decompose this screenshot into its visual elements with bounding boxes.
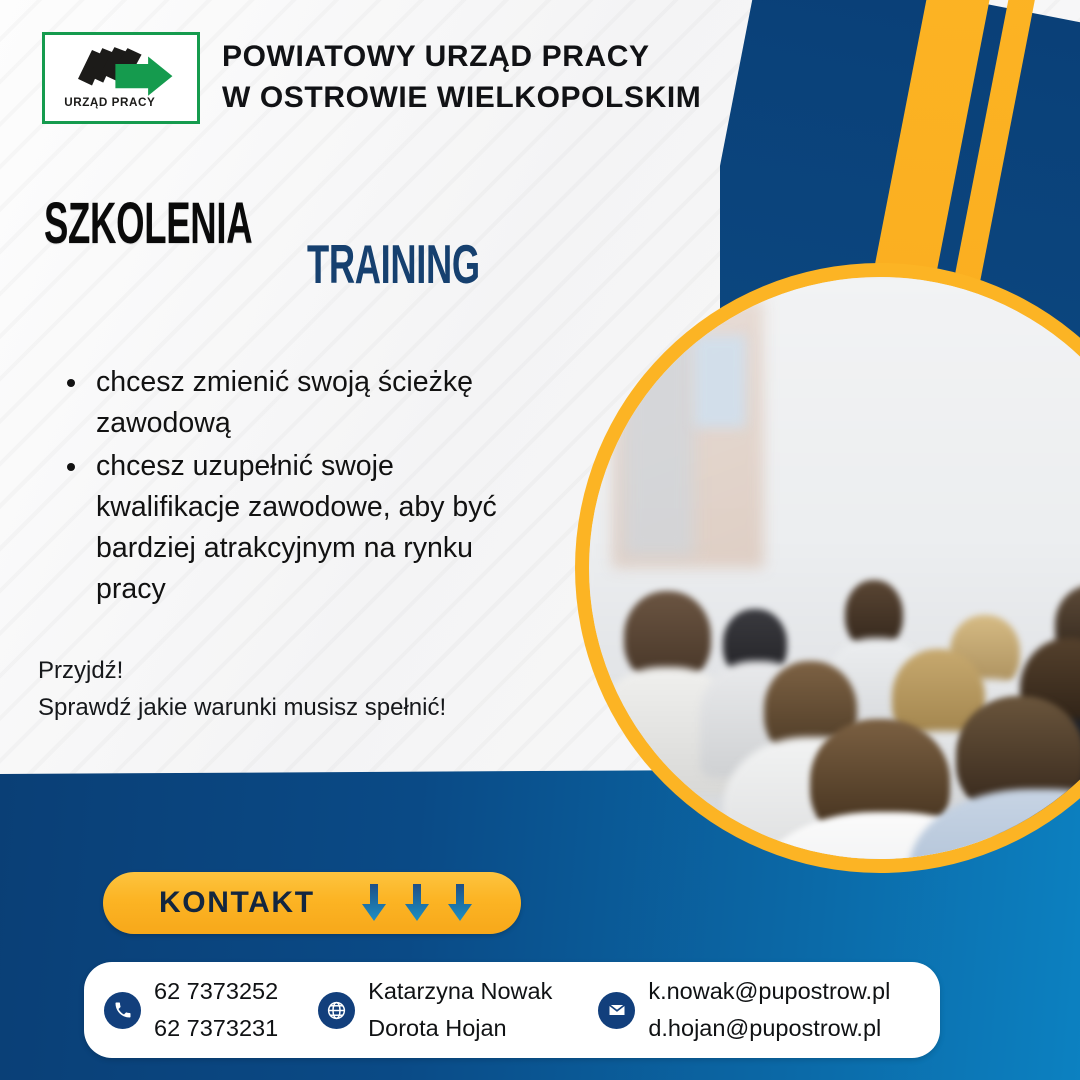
arrow-down-icon: [361, 884, 387, 922]
page-title: POWIATOWY URZĄD PRACY W OSTROWIE WIELKOP…: [222, 36, 842, 118]
arrow-group: [361, 884, 473, 922]
contact-phone-group[interactable]: 62 7373252 62 7373231: [104, 973, 278, 1047]
kontakt-banner[interactable]: KONTAKT: [103, 872, 521, 934]
globe-icon: [318, 992, 355, 1029]
photo-screen: [694, 335, 746, 428]
contact-email-lines: k.nowak@pupostrow.pl d.hojan@pupostrow.p…: [648, 973, 890, 1047]
call-to-action-note: Przyjdź! Sprawdź jakie warunki musisz sp…: [38, 652, 558, 726]
arrow-down-icon: [404, 884, 430, 922]
person-line2: Dorota Hojan: [368, 1010, 552, 1047]
note-line1: Przyjdź!: [38, 652, 558, 689]
person-line1: Katarzyna Nowak: [368, 973, 552, 1010]
headline-english: TRAINING: [307, 232, 480, 296]
list-item: chcesz uzupełnić swoje kwalifikacje zawo…: [90, 446, 537, 610]
headline-polish: SZKOLENIA: [44, 190, 252, 257]
contact-phone-lines: 62 7373252 62 7373231: [154, 973, 278, 1047]
phone-line1: 62 7373252: [154, 973, 278, 1010]
page-title-line2: W OSTROWIE WIELKOPOLSKIM: [222, 77, 842, 118]
email-line1: k.nowak@pupostrow.pl: [648, 973, 890, 1010]
contact-email-group[interactable]: k.nowak@pupostrow.pl d.hojan@pupostrow.p…: [598, 973, 890, 1047]
classroom-audience-photo: [589, 277, 1080, 859]
email-line2: d.hojan@pupostrow.pl: [648, 1010, 890, 1047]
contact-people-group[interactable]: Katarzyna Nowak Dorota Hojan: [318, 973, 552, 1047]
arrow-down-icon: [447, 884, 473, 922]
benefits-list: chcesz zmienić swoją ścieżkę zawodową ch…: [62, 362, 537, 610]
page-title-line1: POWIATOWY URZĄD PRACY: [222, 40, 650, 73]
list-item: chcesz zmienić swoją ścieżkę zawodową: [90, 362, 537, 444]
phone-icon: [104, 992, 141, 1029]
photo-content: [589, 277, 1080, 859]
poster-root: URZĄD PRACY POWIATOWY URZĄD PRACY W OSTR…: [0, 0, 1080, 1080]
contact-card: 62 7373252 62 7373231 Katarzyna Nowak Do…: [84, 962, 940, 1058]
envelope-icon: [598, 992, 635, 1029]
note-line2: Sprawdź jakie warunki musisz spełnić!: [38, 689, 558, 726]
contact-people-lines: Katarzyna Nowak Dorota Hojan: [368, 973, 552, 1047]
phone-line2: 62 7373231: [154, 1010, 278, 1047]
urzad-pracy-logo: URZĄD PRACY: [42, 32, 200, 124]
kontakt-label: KONTAKT: [159, 886, 315, 920]
logo-caption: URZĄD PRACY: [64, 96, 155, 109]
photo-side-panel-2: [624, 324, 694, 557]
